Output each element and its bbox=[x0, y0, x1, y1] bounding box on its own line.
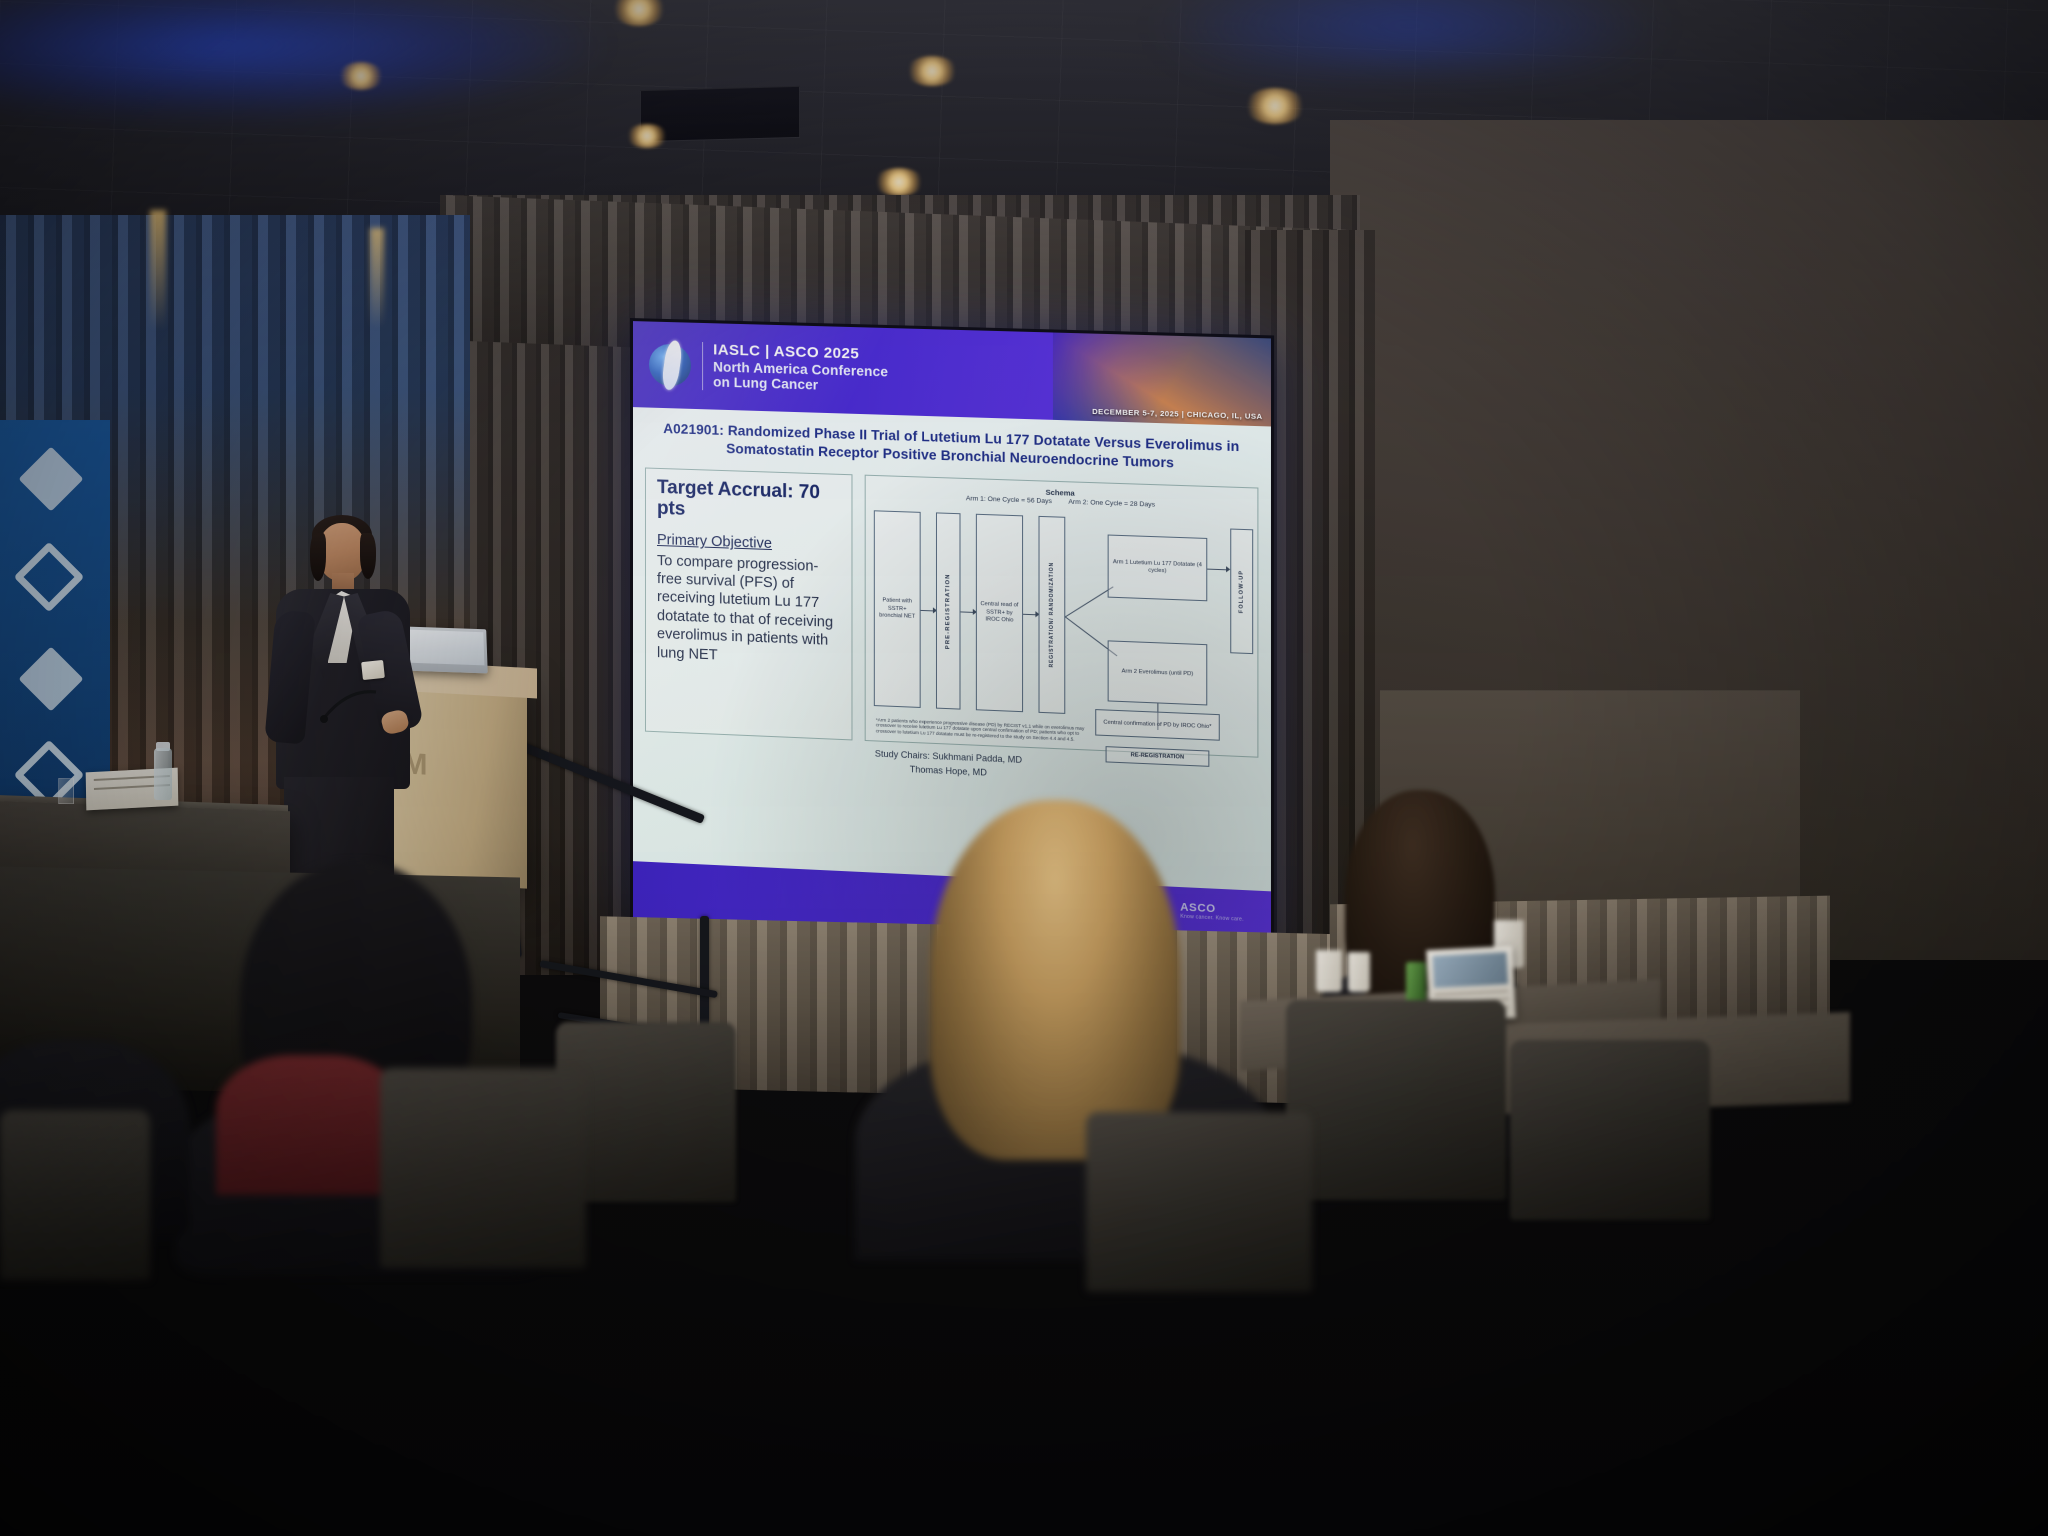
audience-chair-foreground bbox=[380, 1068, 586, 1268]
slide-left-panel: Target Accrual: 70 pts Primary Objective… bbox=[645, 468, 853, 741]
target-accrual-text: Target Accrual: 70 pts bbox=[657, 478, 841, 526]
slide-schema-panel: Schema Arm 1: One Cycle = 56 Days Arm 2:… bbox=[865, 475, 1259, 758]
projection-screen: IASLC | ASCO 2025 North America Conferen… bbox=[630, 318, 1274, 958]
attendee-center-head bbox=[930, 800, 1180, 1160]
ceiling-downlight bbox=[626, 124, 668, 148]
schema-box-arm1: Arm 1 Lutetium Lu 177 Dotatate (4 cycles… bbox=[1108, 535, 1208, 602]
audience-chair-foreground bbox=[0, 1110, 150, 1280]
asco-logo: ASCO Know cancer. Know care. bbox=[1180, 901, 1244, 922]
drinking-glass bbox=[58, 778, 74, 804]
ceiling-downlight bbox=[874, 168, 924, 196]
sign-photo bbox=[1432, 952, 1508, 988]
schema-footnote: *Arm 2 patients who experience progressi… bbox=[876, 717, 1095, 744]
curtain-uplight bbox=[150, 210, 166, 330]
water-bottle bbox=[154, 748, 172, 800]
primary-objective-text: To compare progression-free survival (PF… bbox=[657, 552, 841, 670]
conference-room-photo: IASLC | ASCO 2025 North America Conferen… bbox=[0, 0, 2048, 1536]
conference-brand: IASLC | ASCO 2025 North America Conferen… bbox=[702, 342, 888, 395]
podium-microphone bbox=[318, 688, 378, 728]
attendee-red-top bbox=[216, 1055, 406, 1195]
slide-title: A021901: Randomized Phase II Trial of Lu… bbox=[645, 417, 1258, 475]
audience-chair bbox=[1286, 1000, 1506, 1200]
curtain-uplight bbox=[370, 228, 384, 328]
schema-box-followup: FOLLOW-UP bbox=[1230, 529, 1253, 655]
decor-diamond-icon bbox=[18, 446, 83, 511]
slide-content: A021901: Randomized Phase II Trial of Lu… bbox=[633, 407, 1271, 891]
schema-box-randomization: REGISTRATION/ RANDOMIZATION bbox=[1038, 516, 1065, 714]
decor-diamond-icon bbox=[18, 646, 83, 711]
coffee-cup bbox=[1316, 950, 1342, 992]
globe-icon bbox=[647, 341, 693, 388]
audience-chair-foreground bbox=[1086, 1112, 1312, 1292]
speaker-hair-side-right bbox=[360, 533, 376, 579]
schema-diagram: Patient with SSTR+ bronchial NET PRE-REG… bbox=[872, 503, 1251, 753]
ceiling-blue-light-wash-2 bbox=[1150, 0, 1670, 70]
schema-box-arm2: Arm 2 Everolimus (until PD) bbox=[1108, 641, 1208, 706]
audience-chair bbox=[1510, 1040, 1710, 1220]
ceiling-downlight bbox=[338, 62, 384, 90]
decor-ring-icon bbox=[14, 542, 85, 613]
ceiling-downlight bbox=[1244, 88, 1306, 124]
schema-box-central-confirmation: Central confirmation of PD by IROC Ohio* bbox=[1095, 709, 1220, 741]
schema-box-preregistration: PRE-REGISTRATION bbox=[936, 513, 961, 710]
schema-cycle-arm2: Arm 2: One Cycle = 28 Days bbox=[1068, 499, 1155, 509]
schema-cycle-arm1: Arm 1: One Cycle = 56 Days bbox=[966, 496, 1052, 506]
schema-box-central-read: Central read of SSTR+ by IROC Ohio bbox=[976, 514, 1023, 712]
speaker-hair-side-left bbox=[310, 533, 326, 581]
coffee-cup bbox=[1348, 952, 1370, 992]
schema-box-patient: Patient with SSTR+ bronchial NET bbox=[874, 511, 921, 709]
ceiling-blue-light-wash bbox=[0, 0, 600, 120]
ceiling-downlight bbox=[906, 56, 958, 86]
asco-logo-tagline: Know cancer. Know care. bbox=[1180, 914, 1244, 923]
speaker-name-badge bbox=[361, 660, 385, 680]
